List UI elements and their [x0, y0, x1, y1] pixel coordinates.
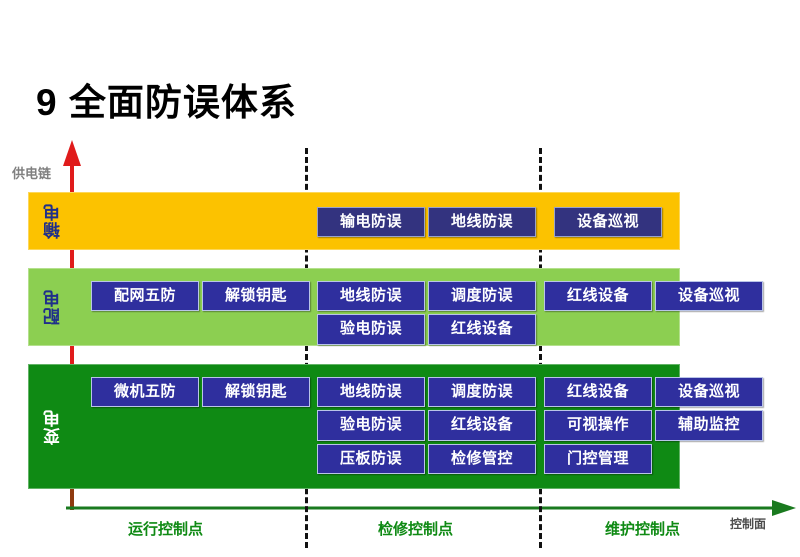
cell-item[interactable]: 红线设备 [544, 281, 652, 311]
cell-item[interactable]: 配网五防 [91, 281, 199, 311]
section-label-operation: 运行控制点 [128, 518, 203, 539]
cell-item[interactable]: 设备巡视 [655, 281, 763, 311]
cell-item[interactable]: 输电防误 [317, 207, 425, 237]
row-label-transmission-text: 输电 [45, 203, 62, 239]
cell-item[interactable]: 可视操作 [544, 410, 652, 440]
cell-item[interactable]: 地线防误 [317, 281, 425, 311]
cell-item[interactable]: 地线防误 [428, 207, 536, 237]
section-label-maintenance: 检修控制点 [378, 518, 453, 539]
cell-item[interactable]: 红线设备 [428, 314, 536, 344]
cell-item[interactable]: 调度防误 [428, 377, 536, 407]
cell-item[interactable]: 验电防误 [317, 314, 425, 344]
row-distribution: 配电 配网五防 解锁钥匙 地线防误 调度防误 验电防误 红线设备 红线设备 设备… [28, 268, 680, 346]
cell-row: 压板防误 检修管控 [317, 444, 536, 474]
cell-row: 验电防误 红线设备 [317, 314, 536, 344]
cellgroup-substation-upkeep: 红线设备 设备巡视 可视操作 辅助监控 门控管理 [544, 377, 763, 474]
cellgroup-substation-operation: 微机五防 解锁钥匙 [91, 377, 310, 407]
row-label-substation-text: 变电 [45, 409, 62, 445]
cell-item[interactable]: 地线防误 [317, 377, 425, 407]
cell-item[interactable]: 调度防误 [428, 281, 536, 311]
row-label-distribution: 配电 [35, 269, 71, 345]
cell-row: 门控管理 [544, 444, 763, 474]
cell-item[interactable]: 解锁钥匙 [202, 281, 310, 311]
row-label-distribution-text: 配电 [45, 289, 62, 325]
cell-item[interactable]: 压板防误 [317, 444, 425, 474]
cell-item[interactable]: 解锁钥匙 [202, 377, 310, 407]
cell-row: 验电防误 红线设备 [317, 410, 536, 440]
page-title: 9 全面防误体系 [36, 72, 297, 126]
cell-row: 输电防误 地线防误 [317, 207, 536, 237]
cell-row: 微机五防 解锁钥匙 [91, 377, 310, 407]
cell-row: 红线设备 设备巡视 [544, 377, 763, 407]
cellgroup-distribution-operation: 配网五防 解锁钥匙 [91, 281, 310, 311]
row-label-substation: 变电 [35, 365, 71, 488]
cell-row: 可视操作 辅助监控 [544, 410, 763, 440]
cell-item[interactable]: 验电防误 [317, 410, 425, 440]
cell-item[interactable]: 检修管控 [428, 444, 536, 474]
cell-row: 红线设备 设备巡视 [544, 281, 763, 311]
cellgroup-substation-maintenance: 地线防误 调度防误 验电防误 红线设备 压板防误 检修管控 [317, 377, 536, 474]
cell-item[interactable]: 微机五防 [91, 377, 199, 407]
cell-row: 设备巡视 [554, 207, 662, 237]
section-label-upkeep: 维护控制点 [605, 518, 680, 539]
row-transmission: 输电 输电防误 地线防误 设备巡视 [28, 192, 680, 250]
cell-item[interactable]: 红线设备 [428, 410, 536, 440]
cell-item[interactable]: 门控管理 [544, 444, 652, 474]
cell-item[interactable]: 设备巡视 [554, 207, 662, 237]
cell-row: 地线防误 调度防误 [317, 281, 536, 311]
cell-row: 配网五防 解锁钥匙 [91, 281, 310, 311]
cellgroup-distribution-upkeep: 红线设备 设备巡视 [544, 281, 763, 311]
cellgroup-transmission-upkeep: 设备巡视 [554, 207, 662, 237]
cell-row: 地线防误 调度防误 [317, 377, 536, 407]
y-axis-label: 供电链 [12, 163, 51, 182]
cellgroup-distribution-maintenance: 地线防误 调度防误 验电防误 红线设备 [317, 281, 536, 345]
x-axis-label: 控制面 [730, 515, 766, 532]
row-label-transmission: 输电 [35, 193, 71, 249]
cell-item[interactable]: 设备巡视 [655, 377, 763, 407]
cell-item[interactable]: 辅助监控 [655, 410, 763, 440]
row-substation: 变电 微机五防 解锁钥匙 地线防误 调度防误 验电防误 红线设备 压板防误 检修… [28, 364, 680, 489]
cellgroup-transmission-maintenance: 输电防误 地线防误 [317, 207, 536, 237]
cell-item[interactable]: 红线设备 [544, 377, 652, 407]
